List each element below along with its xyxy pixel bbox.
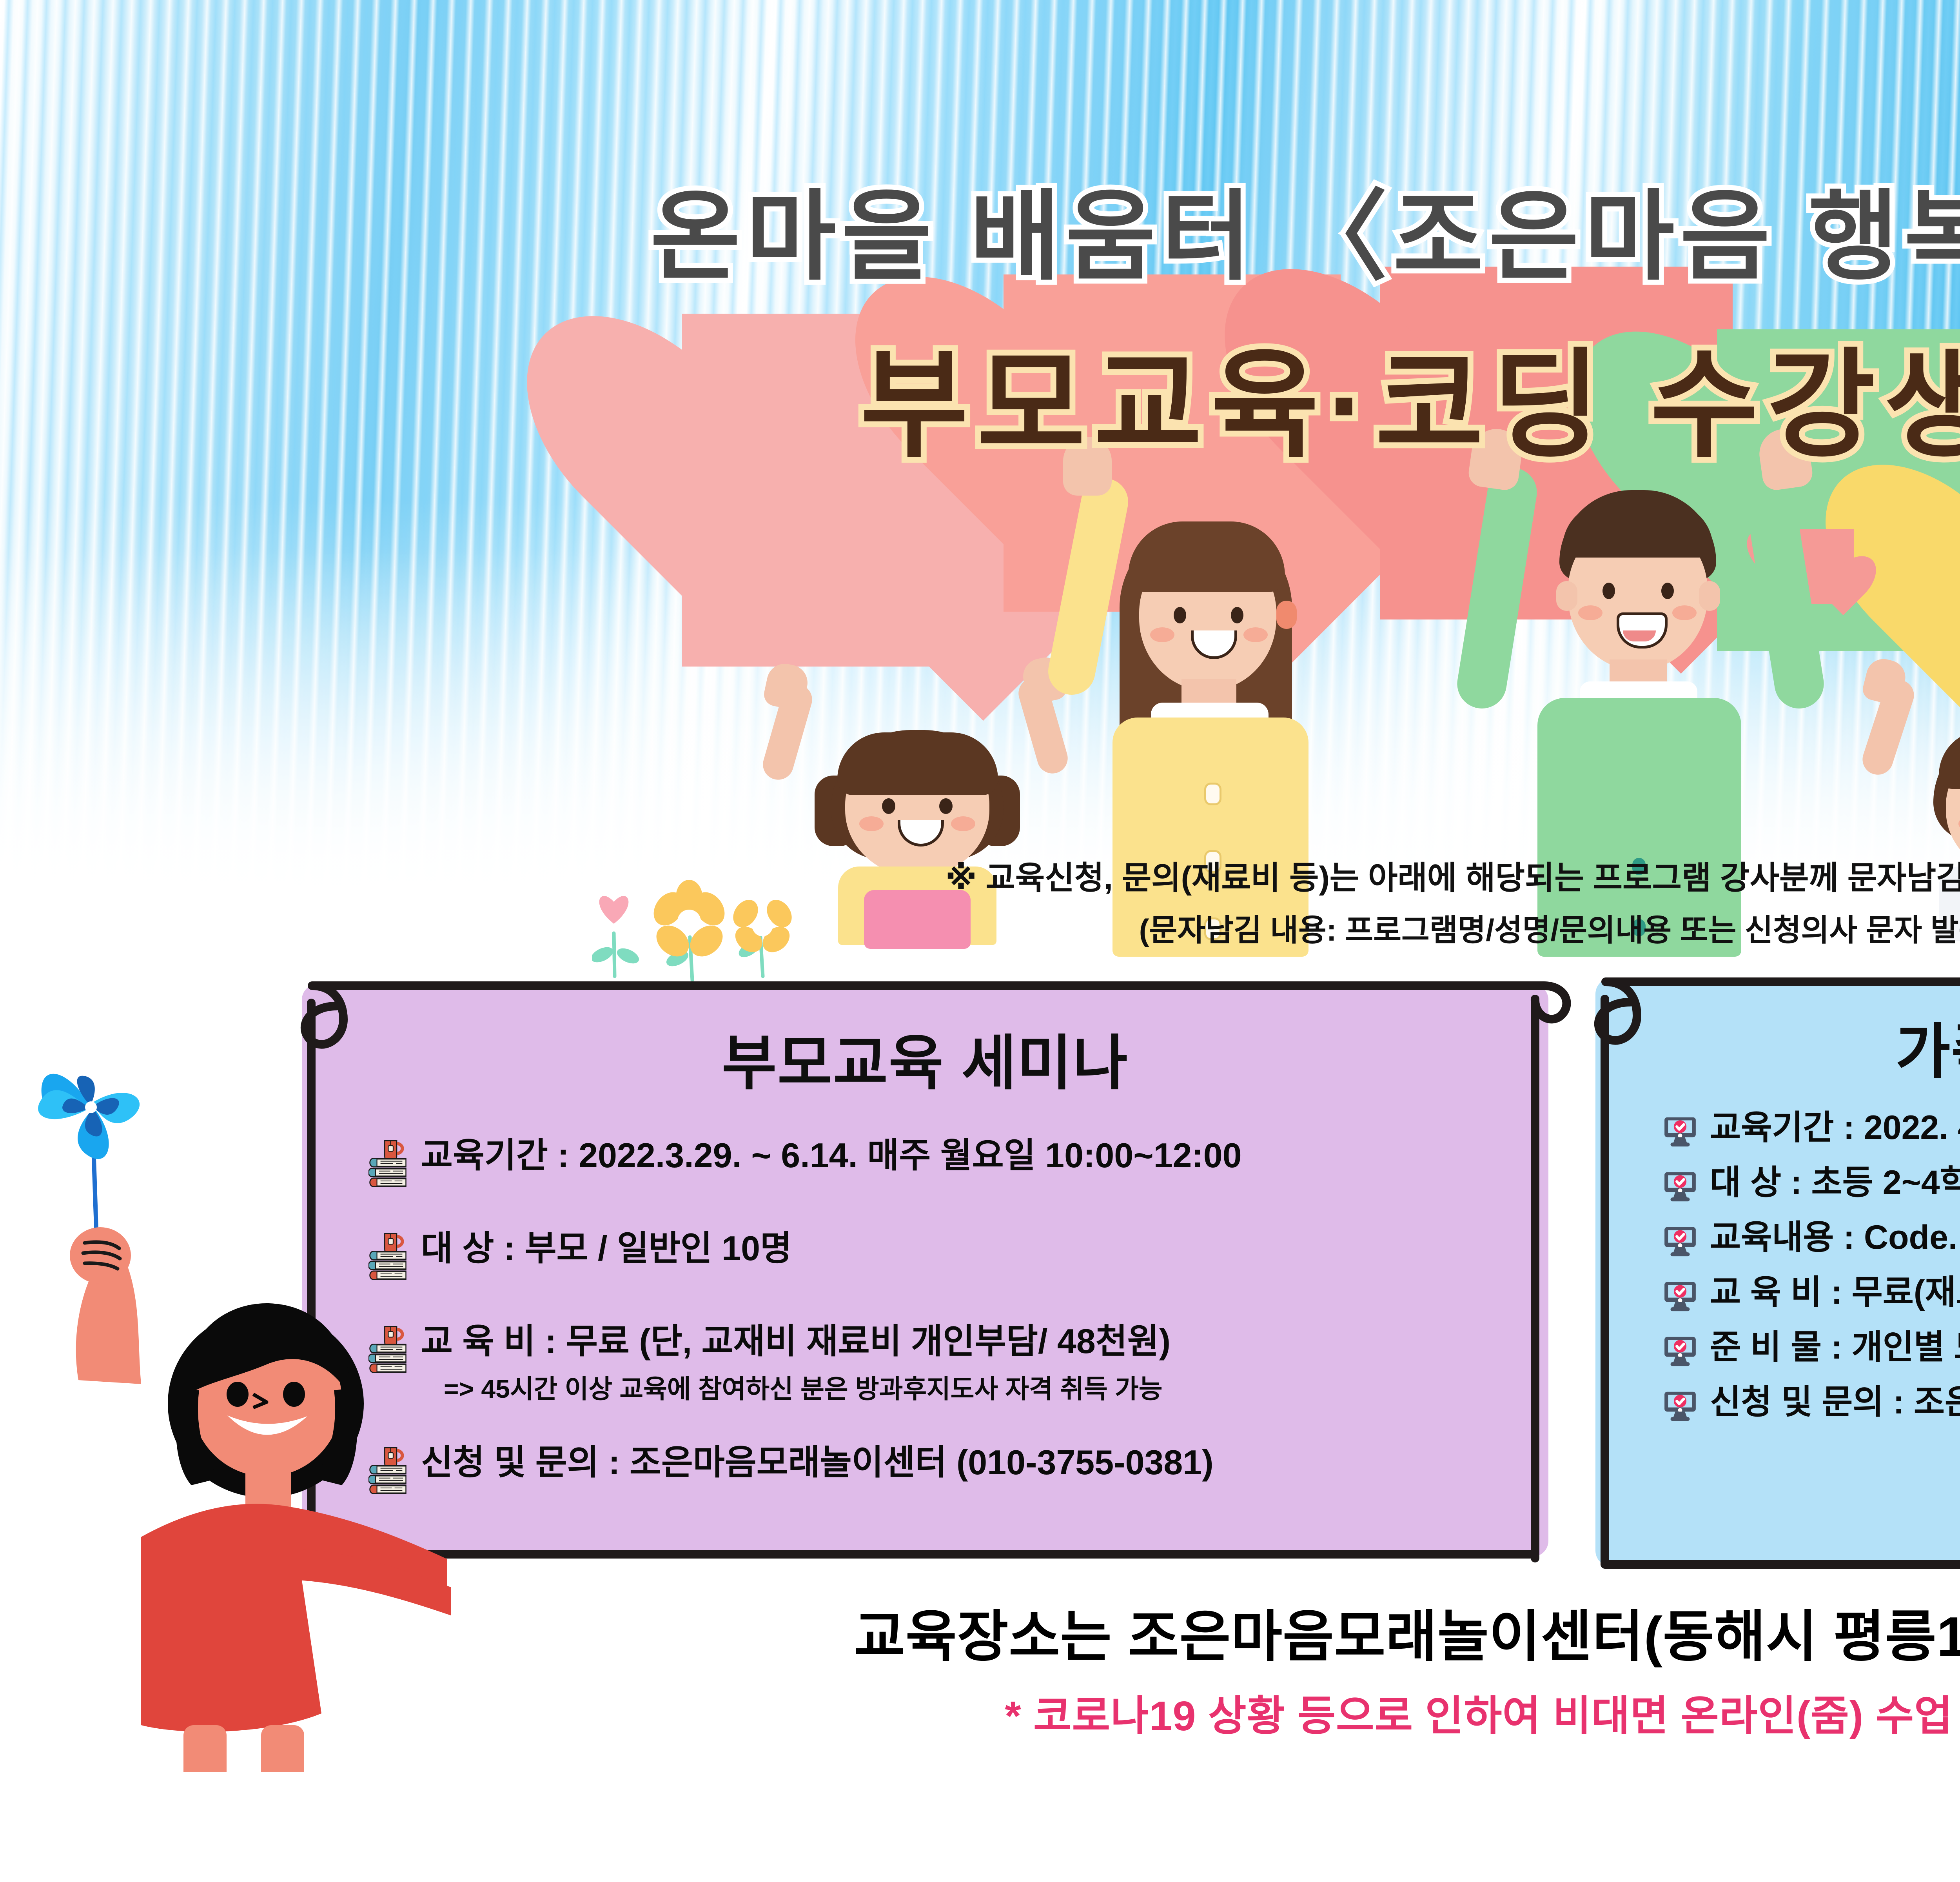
page-title-line1: 온마을 배움터 〈조은마음 행복학습센터〉 bbox=[0, 157, 1960, 299]
list-item-text: 대 상 : 초등 2~4학년 가족 5팀(학생+학부모 10명) bbox=[1710, 1165, 1960, 1201]
list-item: 교 육 비 : 무료 (단, 교재비 재료비 개인부담/ 48천원) => 45… bbox=[368, 1323, 1525, 1406]
application-note-line2: (문자남김 내용: 프로그램명/성명/문의내용 또는 신청의사 문자 발송) bbox=[0, 906, 1960, 950]
education-location-text: 교육장소는 조은마음모래놀이센터(동해시 평릉1길 37-5, 2층) bbox=[0, 1591, 1960, 1672]
list-item-text: 교육기간 : 2022.3.29. ~ 6.14. 매주 월요일 10:00~1… bbox=[421, 1137, 1242, 1174]
list-item: 교육내용 : Code. Org, 엔트리, 인공지능, 햄스터봇, VR/AR bbox=[1662, 1220, 1960, 1259]
list-item-text: 교육내용 : Code. Org, 엔트리, 인공지능, 햄스터봇, VR/AR bbox=[1710, 1220, 1960, 1255]
list-item: 준 비 물 : 개인별 노트북 or 태블릿 필수 지참 bbox=[1662, 1330, 1960, 1369]
list-item: 대 상 : 초등 2~4학년 가족 5팀(학생+학부모 10명) bbox=[1662, 1165, 1960, 1204]
list-item-subnote: => 45시간 이상 교육에 참여하신 분은 방과후지도사 자격 취득 가능 bbox=[444, 1368, 1171, 1406]
list-item: 교 육 비 : 무료(재료비 하드웨어 총5만원) bbox=[1662, 1275, 1960, 1314]
application-note-line1: ※ 교육신청, 문의(재료비 등)는 아래에 해당되는 프로그램 강사분께 문자… bbox=[0, 852, 1960, 898]
list-item: 신청 및 문의 : 조은마음모래놀이센터 (010-3755-0381) bbox=[368, 1444, 1525, 1499]
monitor-check-icon bbox=[1662, 1333, 1698, 1369]
page-title-line2: 부모교육·코딩 수강생 모집 bbox=[0, 310, 1960, 480]
list-item-text: 교육기간 : 2022. 4.3.~8.28. 매주 일요일 16:00~17:… bbox=[1710, 1110, 1960, 1146]
list-item-text: 신청 및 문의 : 조은마음모래놀이센터 (010-3755-0381) bbox=[421, 1444, 1214, 1481]
poster-root: 미리캔버스에서 제작 bbox=[0, 0, 1960, 1882]
list-item: 신청 및 문의 : 조은마음모래놀이센터 (010-5393-3279) bbox=[1662, 1384, 1960, 1424]
list-item: 대 상 : 부모 / 일반인 10명 bbox=[368, 1230, 1525, 1284]
monitor-check-icon bbox=[1662, 1278, 1698, 1314]
monitor-check-icon bbox=[1662, 1223, 1698, 1259]
list-item-text: 교 육 비 : 무료 (단, 교재비 재료비 개인부담/ 48천원) bbox=[421, 1322, 1171, 1361]
card-title-family-coding: 가족과 함께 코딩프로그램 bbox=[1595, 1003, 1960, 1090]
list-item: 교육기간 : 2022.3.29. ~ 6.14. 매주 월요일 10:00~1… bbox=[368, 1137, 1525, 1192]
card-rows-parent-seminar: 교육기간 : 2022.3.29. ~ 6.14. 매주 월요일 10:00~1… bbox=[368, 1137, 1525, 1499]
covid-notice-text: * 코로나19 상황 등으로 인하여 비대면 온라인(줌) 수업 전환 가능 bbox=[0, 1682, 1960, 1742]
card-title-parent-seminar: 부모교육 세미나 bbox=[302, 1015, 1548, 1101]
card-family-coding-program: 가족과 함께 코딩프로그램 교육기간 : 2022. 4.3.~8.28. 매주… bbox=[1595, 978, 1960, 1566]
list-item: 교육기간 : 2022. 4.3.~8.28. 매주 일요일 16:00~17:… bbox=[1662, 1110, 1960, 1149]
card-rows-family-coding: 교육기간 : 2022. 4.3.~8.28. 매주 일요일 16:00~17:… bbox=[1662, 1110, 1960, 1424]
monitor-check-icon bbox=[1662, 1388, 1698, 1424]
list-item-text: 대 상 : 부모 / 일반인 10명 bbox=[421, 1230, 792, 1266]
list-item-text: 교 육 비 : 무료(재료비 하드웨어 총5만원) bbox=[1710, 1275, 1960, 1310]
list-item-text: 준 비 물 : 개인별 노트북 or 태블릿 필수 지참 bbox=[1710, 1330, 1960, 1365]
list-item-text: 신청 및 문의 : 조은마음모래놀이센터 (010-5393-3279) bbox=[1710, 1384, 1960, 1420]
monitor-check-icon bbox=[1662, 1168, 1698, 1204]
card-parent-education-seminar: 부모교육 세미나 bbox=[302, 984, 1548, 1557]
monitor-check-icon bbox=[1662, 1113, 1698, 1149]
